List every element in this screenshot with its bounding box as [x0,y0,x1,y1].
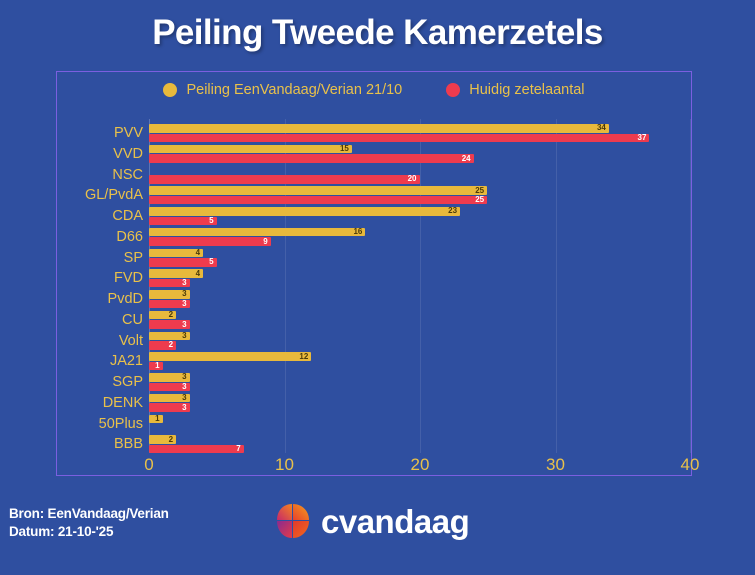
bar-value-label: 1 [155,415,159,423]
bar-value-label: 37 [638,134,647,142]
cvandaag-logo-icon [276,503,310,539]
bar-group: 121 [149,351,691,372]
bar-current[interactable]: 3 [149,383,190,392]
bar-value-label: 7 [236,445,240,453]
bar-value-label: 3 [182,383,186,391]
bar-poll[interactable]: 16 [149,228,365,237]
x-tick-label-40: 40 [681,455,700,475]
bar-poll[interactable]: 2 [149,435,176,444]
bar-group: 32 [149,331,691,352]
bar-value-label: 5 [209,217,213,225]
bar-value-label: 3 [182,290,186,298]
bar-poll[interactable]: 1 [149,415,163,424]
bar-poll[interactable]: 3 [149,332,190,341]
bar-poll[interactable]: 25 [149,186,487,195]
bar-value-label: 25 [475,187,484,195]
category-label-50plus: 50Plus [57,414,143,435]
bar-value-label: 3 [182,332,186,340]
bar-row: D66169 [57,227,691,248]
category-label-fvd: FVD [57,268,143,289]
category-label-gl-pvda: GL/PvdA [57,185,143,206]
bar-row: VVD1524 [57,144,691,165]
bar-current[interactable]: 24 [149,154,474,163]
bar-group: 1524 [149,144,691,165]
bar-value-label: 12 [299,353,308,361]
bar-current[interactable]: 25 [149,196,487,205]
date-line: Datum: 21-10-'25 [9,523,169,541]
bar-group: 43 [149,268,691,289]
bar-value-label: 2 [169,341,173,349]
bar-value-label: 25 [475,196,484,204]
bar-poll[interactable]: 15 [149,145,352,154]
category-label-cu: CU [57,310,143,331]
bar-value-label: 3 [182,404,186,412]
circle-marker-icon [446,83,460,97]
bar-row: SGP33 [57,372,691,393]
legend-label-poll: Peiling EenVandaag/Verian 21/10 [186,82,402,98]
bar-value-label: 3 [182,321,186,329]
bar-value-label: 16 [353,228,362,236]
x-tick-label-30: 30 [546,455,565,475]
page-title: Peiling Tweede Kamerzetels [152,13,603,53]
bar-current[interactable]: 5 [149,217,217,226]
bar-value-label: 23 [448,207,457,215]
bar-group: 1 [149,414,691,435]
bar-value-label: 2 [169,311,173,319]
bar-group: 235 [149,206,691,227]
category-label-pvdd: PvdD [57,289,143,310]
bar-current[interactable]: 1 [149,362,163,371]
brand-name: cvandaag [321,505,469,538]
bar-value-label: 15 [340,145,349,153]
chart-panel: Peiling EenVandaag/Verian 21/10 Huidig z… [56,71,692,476]
category-label-sgp: SGP [57,372,143,393]
bar-value-label: 3 [182,279,186,287]
source-credit: Bron: EenVandaag/Verian Datum: 21-10-'25 [9,505,169,541]
legend-item-current[interactable]: Huidig zetelaantal [446,82,584,98]
bar-row: JA21121 [57,351,691,372]
source-line: Bron: EenVandaag/Verian [9,505,169,523]
bar-row: GL/PvdA2525 [57,185,691,206]
bar-value-label: 5 [209,258,213,266]
category-label-d66: D66 [57,227,143,248]
bar-group: 27 [149,434,691,455]
bar-current[interactable]: 5 [149,258,217,267]
plot-area: 0 10 20 30 40 PVV3437VVD1524NSC20GL/PvdA… [57,119,691,475]
legend-label-current: Huidig zetelaantal [469,82,584,98]
bar-poll[interactable]: 34 [149,124,609,133]
bar-current[interactable]: 37 [149,134,649,143]
title-bar: Peiling Tweede Kamerzetels [0,0,755,66]
bar-current[interactable]: 7 [149,445,244,454]
bar-value-label: 3 [182,373,186,381]
category-label-bbb: BBB [57,434,143,455]
bar-group: 2525 [149,185,691,206]
footer: Bron: EenVandaag/Verian Datum: 21-10-'25 [0,481,755,575]
category-label-volt: Volt [57,331,143,352]
bar-group: 45 [149,248,691,269]
x-tick-label-20: 20 [411,455,430,475]
bar-value-label: 4 [196,270,200,278]
bar-poll[interactable]: 3 [149,373,190,382]
bar-value-label: 3 [182,300,186,308]
bar-value-label: 24 [462,155,471,163]
bar-value-label: 1 [155,362,159,370]
bar-current[interactable]: 3 [149,300,190,309]
bar-value-label: 4 [196,249,200,257]
bar-current[interactable]: 3 [149,279,190,288]
x-tick-label-10: 10 [275,455,294,475]
bar-group: 169 [149,227,691,248]
bar-row: DENK33 [57,393,691,414]
category-label-denk: DENK [57,393,143,414]
bar-current[interactable]: 2 [149,341,176,350]
bar-row: 50Plus1 [57,414,691,435]
bar-poll[interactable]: 12 [149,352,311,361]
bar-poll[interactable]: 3 [149,290,190,299]
category-label-vvd: VVD [57,144,143,165]
bar-current[interactable]: 3 [149,403,190,412]
bar-row: NSC20 [57,165,691,186]
bar-group: 20 [149,165,691,186]
bar-row: PVV3437 [57,123,691,144]
bar-row: PvdD33 [57,289,691,310]
bar-poll[interactable]: 3 [149,394,190,403]
bar-value-label: 20 [408,175,417,183]
bar-poll[interactable]: 2 [149,311,176,320]
bar-value-label: 2 [169,436,173,444]
category-label-sp: SP [57,248,143,269]
circle-marker-icon [163,83,177,97]
x-tick-label-0: 0 [144,455,153,475]
bar-group: 3437 [149,123,691,144]
bar-value-label: 9 [263,238,267,246]
bar-rows: PVV3437VVD1524NSC20GL/PvdA2525CDA235D661… [57,123,691,455]
bar-poll[interactable]: 4 [149,249,203,258]
bar-row: FVD43 [57,268,691,289]
bar-group: 23 [149,310,691,331]
category-label-cda: CDA [57,206,143,227]
bar-poll[interactable]: 23 [149,207,460,216]
bar-group: 33 [149,372,691,393]
bar-value-label: 3 [182,394,186,402]
bar-current[interactable]: 20 [149,175,420,184]
bar-group: 33 [149,289,691,310]
bar-row: SP45 [57,248,691,269]
bar-row: Volt32 [57,331,691,352]
category-label-nsc: NSC [57,165,143,186]
bar-group: 33 [149,393,691,414]
bar-current[interactable]: 3 [149,320,190,329]
bar-value-label: 34 [597,124,606,132]
bar-row: BBB27 [57,434,691,455]
brand-logo[interactable]: cvandaag [276,503,469,539]
bar-poll[interactable]: 4 [149,269,203,278]
chart-legend: Peiling EenVandaag/Verian 21/10 Huidig z… [57,82,691,98]
category-label-pvv: PVV [57,123,143,144]
bar-current[interactable]: 9 [149,237,271,246]
bar-row: CU23 [57,310,691,331]
bar-row: CDA235 [57,206,691,227]
legend-item-poll[interactable]: Peiling EenVandaag/Verian 21/10 [163,82,402,98]
category-label-ja21: JA21 [57,351,143,372]
